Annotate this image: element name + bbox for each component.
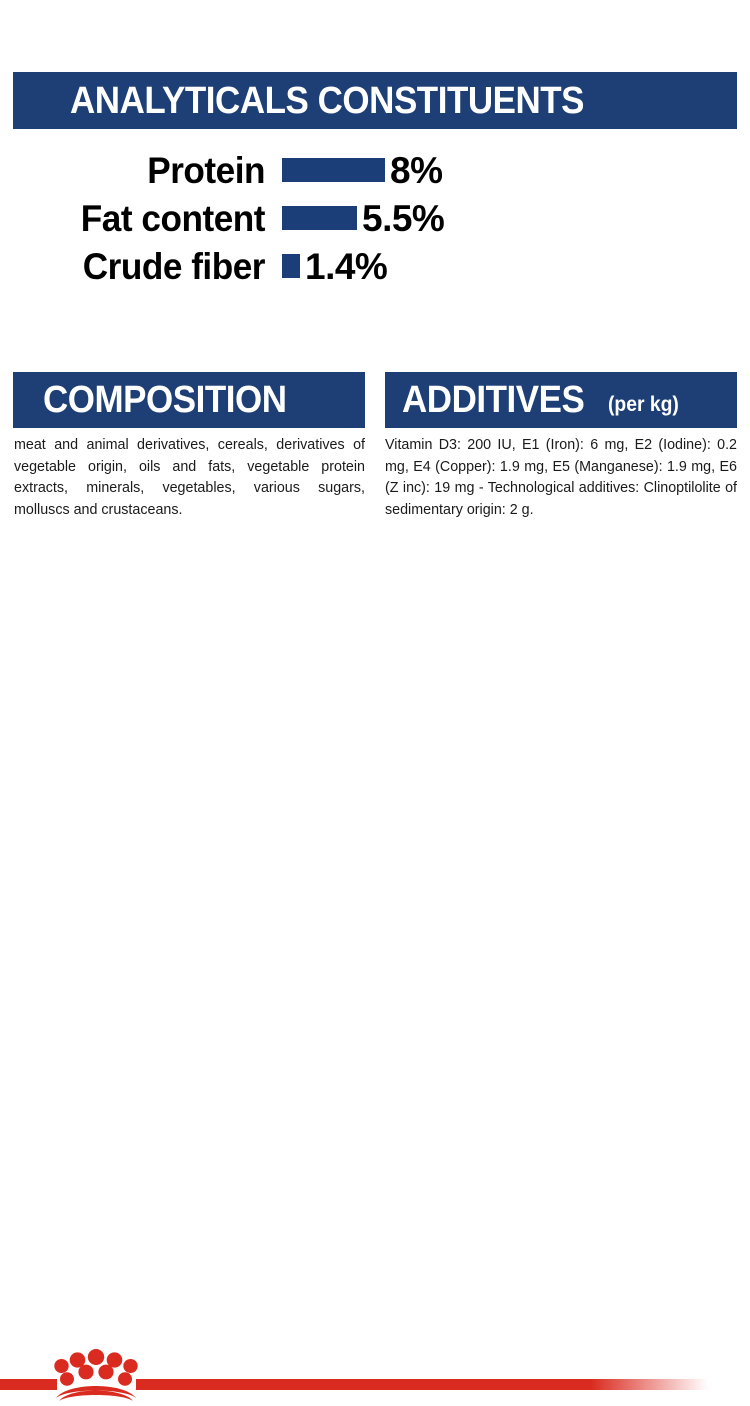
analytical-bar-fat-content — [282, 206, 357, 230]
analytical-value-fat-content: 5.5% — [362, 200, 444, 237]
analyticals-chart: Protein 8% Fat content 5.5% Crude fiber … — [0, 146, 750, 290]
analyticals-heading-text: ANALYTICALS CONSTITUENTS — [70, 82, 584, 120]
analytical-label-protein: Protein — [13, 152, 265, 189]
analytical-label-fat-content: Fat content — [13, 200, 265, 237]
analytical-label-crude-fiber: Crude fiber — [13, 248, 265, 285]
analytical-row-protein: Protein 8% — [0, 146, 750, 194]
additives-header: ADDITIVES (per kg) — [385, 372, 737, 428]
analytical-bar-group-crude-fiber: 1.4% — [282, 248, 387, 285]
nutrition-info-panel: ANALYTICALS CONSTITUENTS Protein 8% Fat … — [0, 0, 750, 750]
composition-heading-text: COMPOSITION — [43, 381, 287, 419]
footer-rule-left — [0, 1379, 57, 1390]
analytical-value-crude-fiber: 1.4% — [305, 248, 387, 285]
analytical-bar-protein — [282, 158, 385, 182]
additives-body-text: Vitamin D3: 200 IU, E1 (Iron): 6 mg, E2 … — [385, 435, 737, 522]
composition-header: COMPOSITION — [13, 372, 365, 428]
analytical-bar-crude-fiber — [282, 254, 300, 278]
additives-subheading-text: (per kg) — [608, 394, 679, 415]
analytical-bar-group-protein: 8% — [282, 152, 442, 189]
composition-body-text: meat and animal derivatives, cereals, de… — [14, 435, 365, 522]
analytical-bar-group-fat-content: 5.5% — [282, 200, 444, 237]
analyticals-constituents-header: ANALYTICALS CONSTITUENTS — [13, 72, 737, 129]
analytical-row-crude-fiber: Crude fiber 1.4% — [0, 242, 750, 290]
analytical-value-protein: 8% — [390, 152, 442, 189]
footer-brand-bar — [0, 670, 750, 750]
royal-canin-crown-icon — [52, 1349, 140, 1401]
analytical-row-fat-content: Fat content 5.5% — [0, 194, 750, 242]
additives-heading-text: ADDITIVES — [402, 381, 584, 419]
footer-rule-right — [136, 1379, 750, 1390]
